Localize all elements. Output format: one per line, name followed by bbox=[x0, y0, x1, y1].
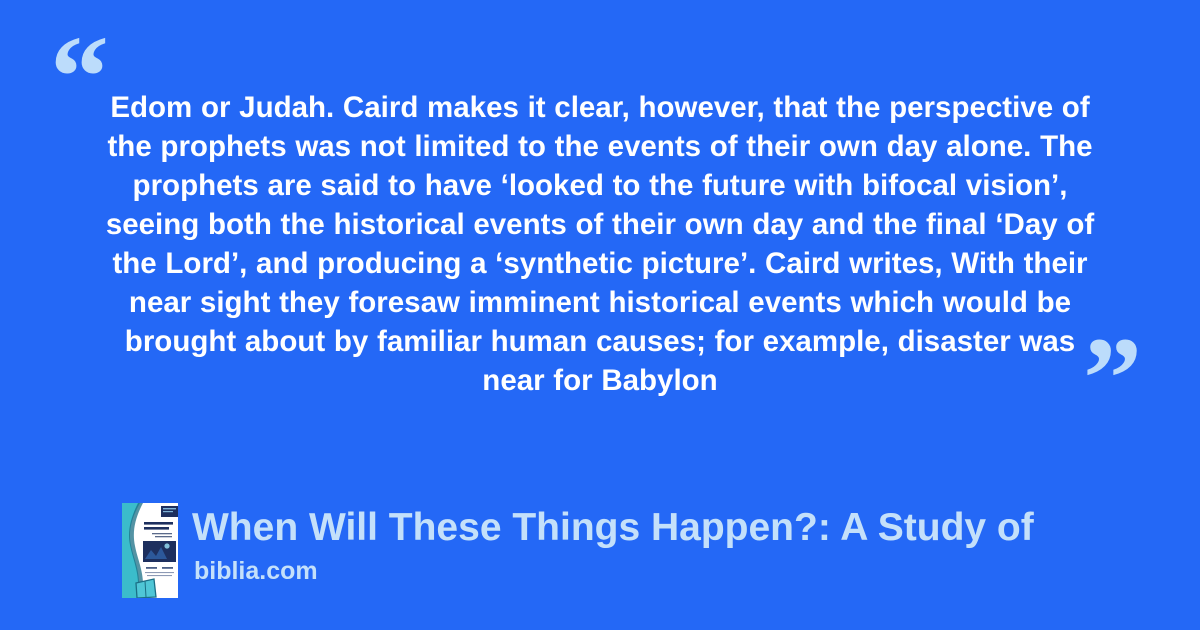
quote-text: Edom or Judah. Caird makes it clear, how… bbox=[100, 88, 1100, 400]
book-title[interactable]: When Will These Things Happen?: A Study … bbox=[192, 504, 1034, 552]
quote-card: “ ” Edom or Judah. Caird makes it clear,… bbox=[0, 0, 1200, 630]
attribution-footer: When Will These Things Happen?: A Study … bbox=[122, 503, 1034, 598]
attribution-text: When Will These Things Happen?: A Study … bbox=[192, 503, 1034, 586]
site-name[interactable]: biblia.com bbox=[194, 556, 1034, 586]
quote-block: Edom or Judah. Caird makes it clear, how… bbox=[100, 88, 1100, 400]
book-cover-thumbnail[interactable] bbox=[122, 503, 178, 598]
open-quote-icon: “ bbox=[50, 18, 107, 136]
